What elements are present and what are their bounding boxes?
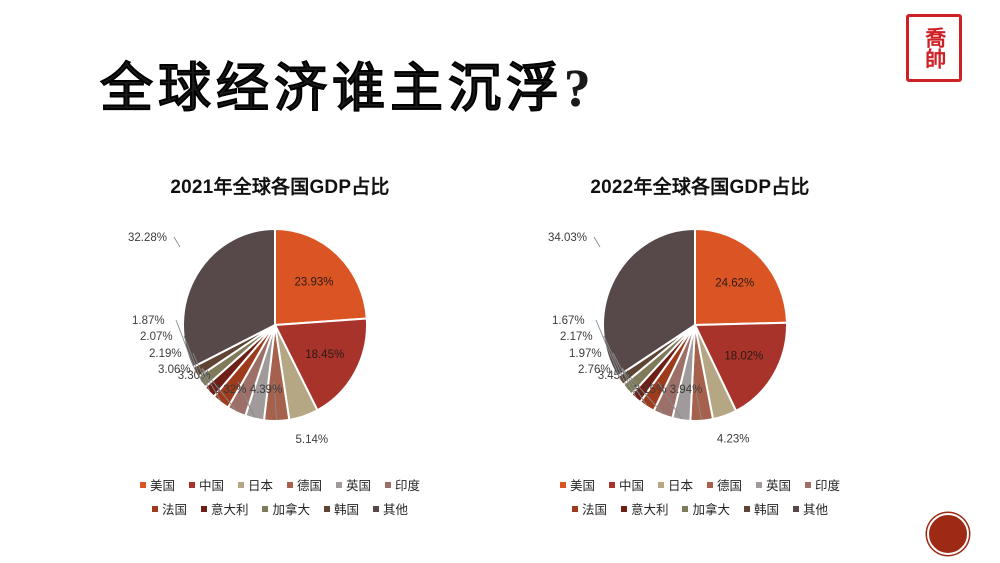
slice-percent-label: 34.03% [548, 232, 587, 244]
legend-swatch-icon [238, 482, 244, 488]
legend-item-label: 法国 [162, 499, 187, 518]
legend-swatch-icon [287, 482, 293, 488]
legend-swatch-icon [152, 506, 158, 512]
chart-legend-2021: 美国中国日本德国英国印度法国意大利加拿大韩国其他 [115, 475, 445, 518]
chart-title: 2021年全球各国GDP占比 [70, 172, 490, 199]
seal-characters: 喬帥 [923, 20, 944, 76]
legend-swatch-icon [189, 482, 195, 488]
legend-item-label: 日本 [248, 475, 273, 494]
legend-item-韩国[interactable]: 韩国 [744, 499, 779, 518]
page-title: 全球经济谁主沉浮? [100, 62, 596, 118]
label-leader-line [174, 237, 180, 247]
slice-percent-label: 2.76% [578, 364, 611, 376]
legend-item-法国[interactable]: 法国 [572, 499, 607, 518]
legend-swatch-icon [336, 482, 342, 488]
legend-row: 法国意大利加拿大韩国其他 [115, 499, 445, 518]
legend-item-label: 中国 [199, 475, 224, 494]
legend-swatch-icon [262, 506, 268, 512]
legend-item-中国[interactable]: 中国 [189, 475, 224, 494]
legend-swatch-icon [744, 506, 750, 512]
legend-swatch-icon [324, 506, 330, 512]
legend-item-日本[interactable]: 日本 [658, 475, 693, 494]
slice-percent-label: 4.39% [250, 384, 283, 396]
legend-item-label: 美国 [570, 475, 595, 494]
legend-swatch-icon [793, 506, 799, 512]
slice-percent-label: 3.32% [214, 384, 247, 396]
legend-item-label: 加拿大 [692, 499, 730, 518]
legend-item-意大利[interactable]: 意大利 [621, 499, 669, 518]
pie-svg: 23.93%18.45%5.14%4.39%3.32%3.30%3.06%2.1… [70, 207, 490, 469]
legend-item-label: 意大利 [211, 499, 249, 518]
legend-item-韩国[interactable]: 韩国 [324, 499, 359, 518]
legend-swatch-icon [572, 506, 578, 512]
chart-panel-2021: 2021年全球各国GDP占比 23.93%18.45%5.14%4.39%3.3… [70, 172, 490, 518]
legend-item-德国[interactable]: 德国 [287, 475, 322, 494]
pie-svg: 24.62%18.02%4.23%3.94%3.15%3.45%2.76%1.9… [490, 207, 910, 469]
legend-item-label: 英国 [346, 475, 371, 494]
label-leader-line [594, 237, 600, 247]
slice-percent-label: 32.28% [128, 232, 167, 244]
legend-item-label: 印度 [395, 475, 420, 494]
slice-percent-label: 3.15% [634, 384, 667, 396]
slice-percent-label: 23.93% [294, 277, 333, 289]
legend-item-日本[interactable]: 日本 [238, 475, 273, 494]
legend-swatch-icon [609, 482, 615, 488]
legend-item-其他[interactable]: 其他 [373, 499, 408, 518]
legend-swatch-icon [385, 482, 391, 488]
slice-percent-label: 1.67% [552, 315, 585, 327]
legend-item-label: 韩国 [334, 499, 359, 518]
legend-swatch-icon [621, 506, 627, 512]
slice-percent-label: 2.19% [149, 348, 182, 360]
legend-swatch-icon [805, 482, 811, 488]
legend-item-印度[interactable]: 印度 [385, 475, 420, 494]
legend-item-label: 法国 [582, 499, 607, 518]
legend-item-加拿大[interactable]: 加拿大 [682, 499, 730, 518]
legend-item-label: 德国 [297, 475, 322, 494]
legend-swatch-icon [140, 482, 146, 488]
legend-item-label: 加拿大 [272, 499, 310, 518]
legend-item-意大利[interactable]: 意大利 [201, 499, 249, 518]
legend-item-印度[interactable]: 印度 [805, 475, 840, 494]
legend-item-法国[interactable]: 法国 [152, 499, 187, 518]
legend-swatch-icon [707, 482, 713, 488]
seal-stamp-logo: 喬帥 [906, 14, 962, 82]
slice-percent-label: 3.06% [158, 364, 191, 376]
legend-row: 法国意大利加拿大韩国其他 [535, 499, 865, 518]
legend-item-德国[interactable]: 德国 [707, 475, 742, 494]
legend-item-label: 其他 [803, 499, 828, 518]
slice-percent-label: 5.14% [295, 434, 328, 446]
legend-item-label: 韩国 [754, 499, 779, 518]
legend-swatch-icon [658, 482, 664, 488]
legend-item-中国[interactable]: 中国 [609, 475, 644, 494]
legend-item-英国[interactable]: 英国 [336, 475, 371, 494]
legend-swatch-icon [682, 506, 688, 512]
chart-legend-2022: 美国中国日本德国英国印度法国意大利加拿大韩国其他 [535, 475, 865, 518]
legend-swatch-icon [560, 482, 566, 488]
pie-chart-2021: 23.93%18.45%5.14%4.39%3.32%3.30%3.06%2.1… [70, 207, 490, 469]
legend-row: 美国中国日本德国英国印度 [535, 475, 865, 494]
legend-swatch-icon [201, 506, 207, 512]
legend-item-label: 英国 [766, 475, 791, 494]
slice-percent-label: 2.07% [140, 331, 173, 343]
legend-row: 美国中国日本德国英国印度 [115, 475, 445, 494]
legend-item-label: 中国 [619, 475, 644, 494]
slice-percent-label: 18.02% [724, 351, 763, 363]
legend-item-label: 美国 [150, 475, 175, 494]
pie-chart-2022: 24.62%18.02%4.23%3.94%3.15%3.45%2.76%1.9… [490, 207, 910, 469]
legend-swatch-icon [756, 482, 762, 488]
slice-percent-label: 1.87% [132, 315, 165, 327]
corner-logo [927, 513, 969, 555]
slice-percent-label: 24.62% [715, 277, 754, 289]
legend-item-美国[interactable]: 美国 [560, 475, 595, 494]
chart-panel-2022: 2022年全球各国GDP占比 24.62%18.02%4.23%3.94%3.1… [490, 172, 910, 518]
legend-item-label: 印度 [815, 475, 840, 494]
legend-item-label: 其他 [383, 499, 408, 518]
legend-swatch-icon [373, 506, 379, 512]
slice-percent-label: 18.45% [305, 349, 344, 361]
legend-item-加拿大[interactable]: 加拿大 [262, 499, 310, 518]
legend-item-label: 日本 [668, 475, 693, 494]
chart-title: 2022年全球各国GDP占比 [490, 172, 910, 199]
slice-percent-label: 2.17% [560, 331, 593, 343]
legend-item-其他[interactable]: 其他 [793, 499, 828, 518]
slice-percent-label: 3.94% [670, 384, 703, 396]
legend-item-美国[interactable]: 美国 [140, 475, 175, 494]
legend-item-label: 意大利 [631, 499, 669, 518]
slice-percent-label: 4.23% [717, 434, 750, 446]
slice-percent-label: 1.97% [569, 348, 602, 360]
legend-item-label: 德国 [717, 475, 742, 494]
legend-item-英国[interactable]: 英国 [756, 475, 791, 494]
